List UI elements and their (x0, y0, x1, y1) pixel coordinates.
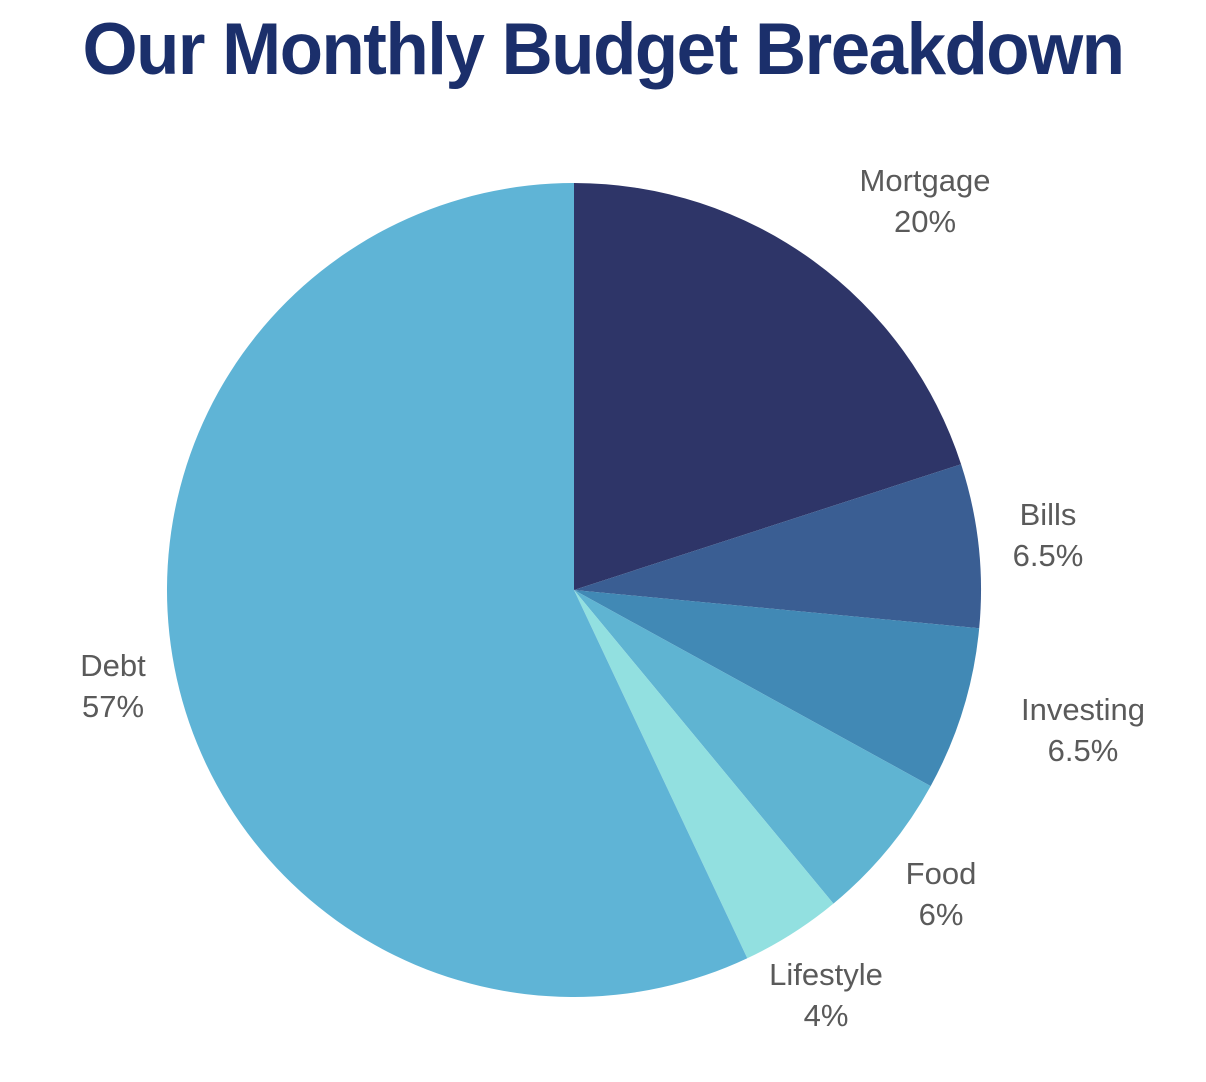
pie-label-value: 6% (906, 895, 977, 936)
pie-label-mortgage: Mortgage20% (860, 161, 991, 243)
pie-label-name: Debt (80, 646, 145, 687)
pie-label-value: 4% (769, 996, 883, 1037)
pie-label-lifestyle: Lifestyle4% (769, 955, 883, 1037)
pie-label-name: Investing (1021, 690, 1145, 731)
pie-label-debt: Debt57% (80, 646, 145, 728)
pie-label-investing: Investing6.5% (1021, 690, 1145, 772)
pie-label-name: Bills (1013, 495, 1084, 536)
pie-slice-group (167, 183, 981, 997)
pie-label-value: 57% (80, 687, 145, 728)
pie-chart: Mortgage20%Bills6.5%Investing6.5%Food6%L… (0, 0, 1206, 1082)
pie-label-name: Mortgage (860, 161, 991, 202)
pie-label-food: Food6% (906, 854, 977, 936)
pie-label-value: 6.5% (1021, 731, 1145, 772)
pie-label-bills: Bills6.5% (1013, 495, 1084, 577)
pie-label-value: 6.5% (1013, 536, 1084, 577)
pie-label-name: Food (906, 854, 977, 895)
pie-label-value: 20% (860, 202, 991, 243)
pie-label-name: Lifestyle (769, 955, 883, 996)
